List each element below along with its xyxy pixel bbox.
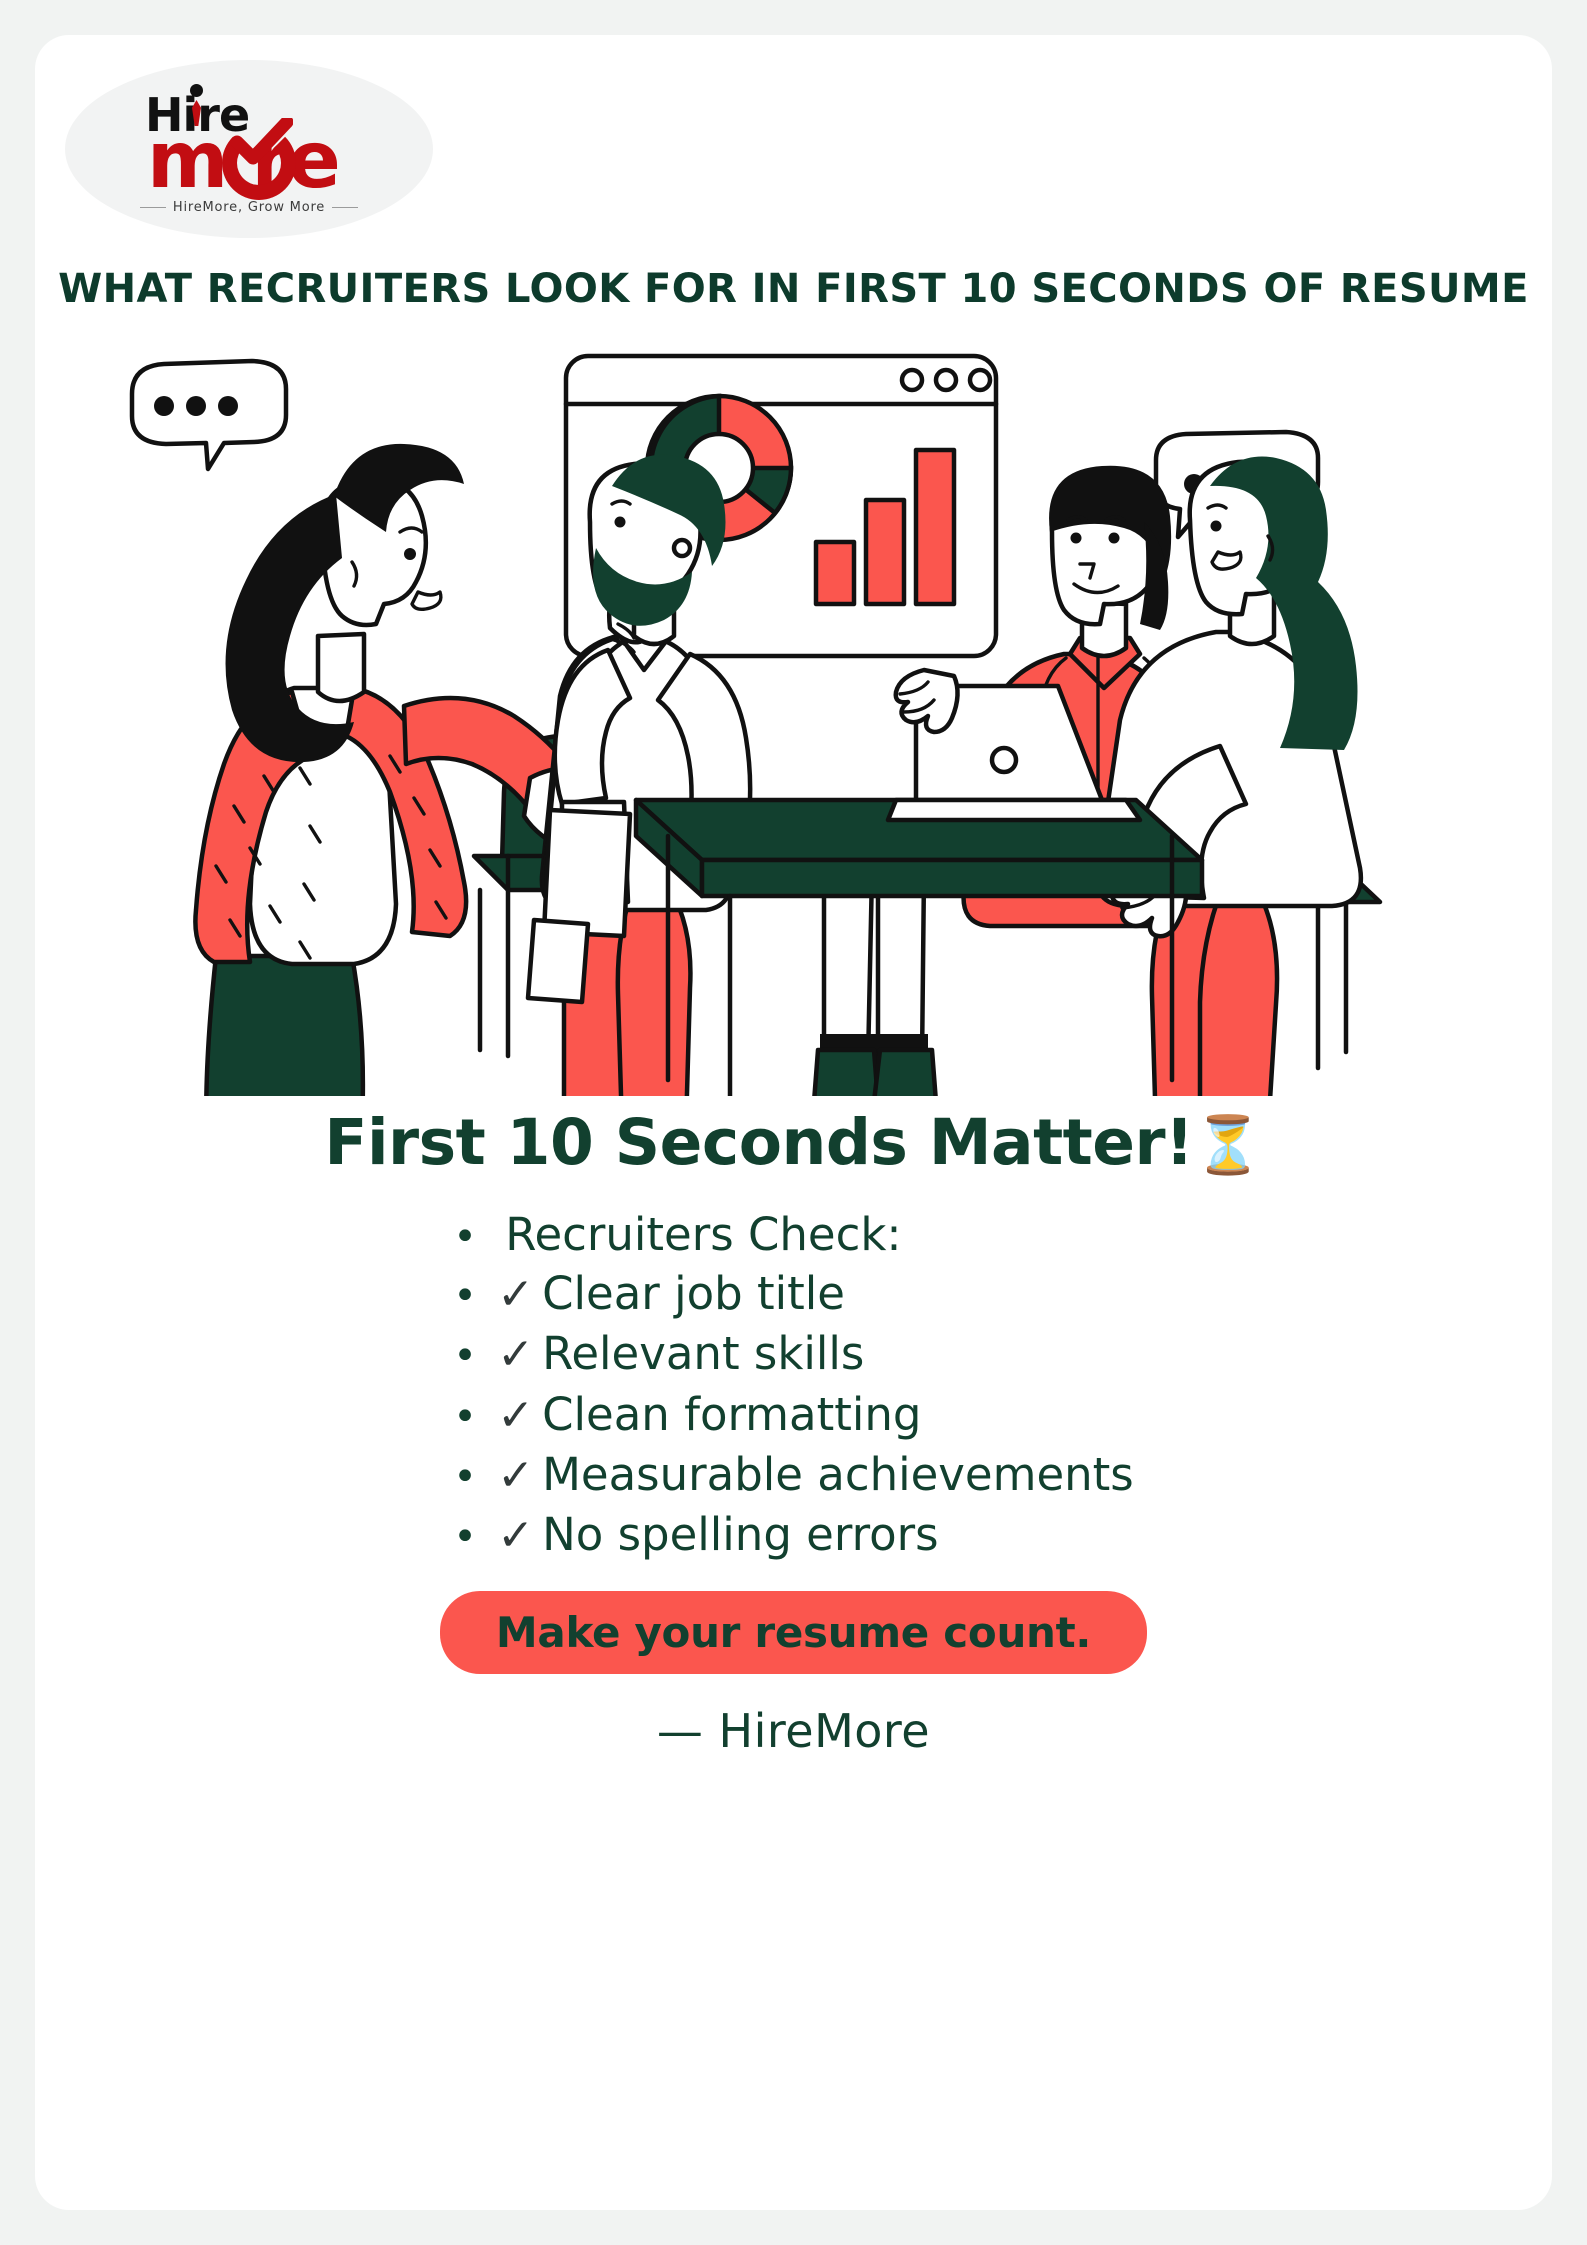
cta-button[interactable]: Make your resume count.: [440, 1591, 1147, 1674]
check-icon: ✓: [497, 1326, 534, 1384]
bullet-dot-icon: •: [453, 1511, 497, 1564]
list-item: • ✓ Clean formatting: [453, 1385, 1134, 1445]
list-item-label: Clean formatting: [542, 1385, 921, 1444]
list-item-label: Recruiters Check:: [505, 1205, 901, 1264]
list-item: • Recruiters Check:: [453, 1205, 1134, 1264]
bullet-dot-icon: •: [453, 1391, 497, 1444]
hourglass-icon: ⏳: [1193, 1113, 1262, 1178]
headline: First 10 Seconds Matter!⏳: [324, 1106, 1262, 1179]
list-item: • ✓ Measurable achievements: [453, 1445, 1134, 1505]
page-title: WHAT RECRUITERS LOOK FOR IN FIRST 10 SEC…: [58, 266, 1529, 312]
logo-tie-knot-icon: [190, 84, 203, 97]
check-icon: ✓: [497, 1447, 534, 1505]
paper-graphic: [528, 920, 588, 1002]
checklist: • Recruiters Check: • ✓ Clear job title …: [453, 1205, 1134, 1565]
list-item-label: Relevant skills: [542, 1324, 864, 1383]
check-icon: ✓: [497, 1266, 534, 1324]
tagline-rule-left: [140, 207, 166, 208]
tagline-rule-right: [332, 207, 358, 208]
bullet-dot-icon: •: [453, 1330, 497, 1383]
logo-checkmark-icon: [231, 118, 293, 166]
list-item: • ✓ Relevant skills: [453, 1324, 1134, 1384]
list-item-label: Clear job title: [542, 1264, 845, 1323]
center-person-legs-graphic: [807, 872, 942, 1096]
bullet-dot-icon: •: [453, 1451, 497, 1504]
speech-bubble-left-graphic: [132, 361, 286, 469]
list-item: • ✓ No spelling errors: [453, 1505, 1134, 1565]
tagline-text: HireMore, Grow More: [173, 200, 325, 215]
bullet-dot-icon: •: [453, 1211, 497, 1264]
poster-card: Hire m re HireMore, Grow More WHAT RECRU…: [35, 35, 1552, 2210]
list-item-label: No spelling errors: [542, 1505, 938, 1564]
list-item: • ✓ Clear job title: [453, 1264, 1134, 1324]
check-icon: ✓: [497, 1507, 534, 1565]
bullet-dot-icon: •: [453, 1270, 497, 1323]
meeting-illustration: .ln { fill:none; stroke:#111; stroke-wid…: [104, 336, 1484, 1096]
signature: — HireMore: [657, 1704, 930, 1758]
headline-text: First 10 Seconds Matter!: [324, 1106, 1193, 1179]
brand-logo[interactable]: Hire m re HireMore, Grow More: [65, 60, 433, 238]
check-icon: ✓: [497, 1387, 534, 1445]
list-item-label: Measurable achievements: [542, 1445, 1134, 1504]
logo-tagline: HireMore, Grow More: [65, 200, 433, 215]
